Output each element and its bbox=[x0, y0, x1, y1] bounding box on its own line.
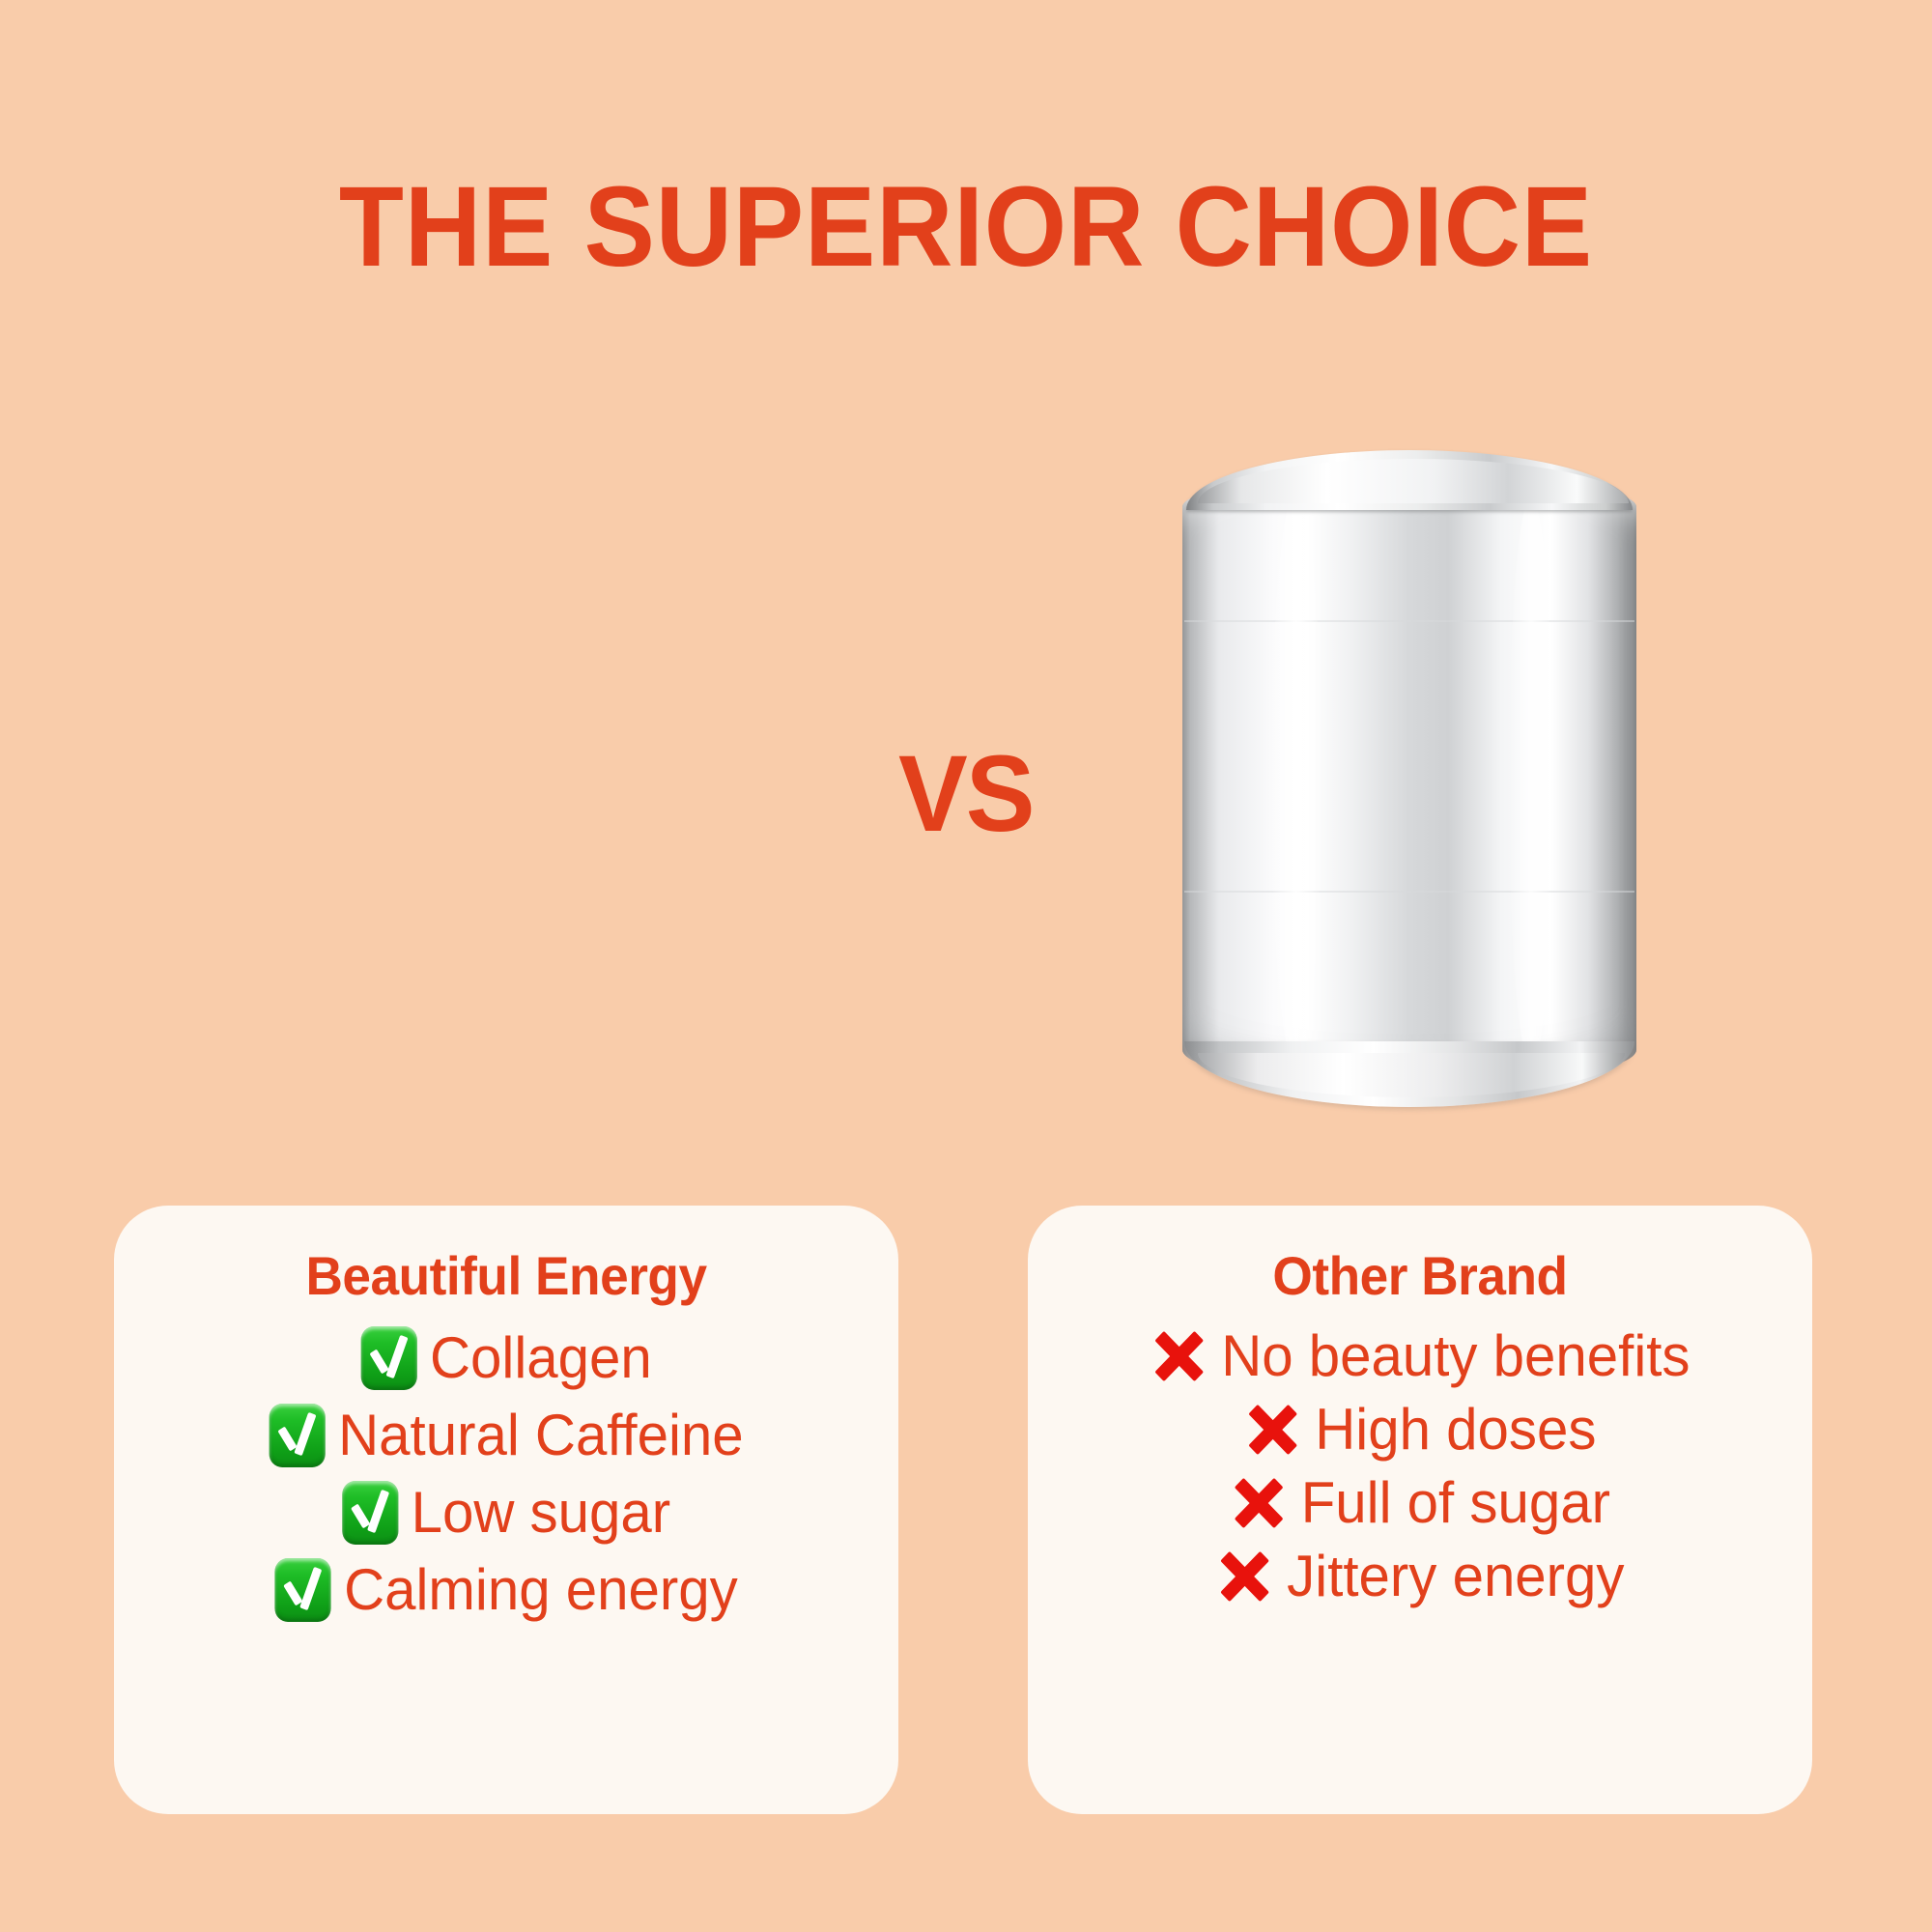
list-item-label: Full of sugar bbox=[1301, 1473, 1610, 1532]
list-item: Natural Caffeine bbox=[126, 1397, 887, 1474]
can-band bbox=[1184, 891, 1634, 893]
list-item-label: Low sugar bbox=[412, 1483, 671, 1542]
list-item-label: High doses bbox=[1315, 1400, 1596, 1459]
can-bottom-rim bbox=[1184, 1041, 1634, 1107]
list-item-label: No beauty benefits bbox=[1221, 1326, 1690, 1385]
comparison-card-other-brand: Other Brand No beauty benefits High dose… bbox=[1028, 1206, 1812, 1814]
check-mark-button-icon bbox=[360, 1326, 416, 1390]
can-top-rim-inner bbox=[1198, 459, 1629, 503]
benefit-list-left: Collagen Natural Caffeine Low sugar Calm… bbox=[114, 1320, 898, 1629]
list-item: Jittery energy bbox=[1039, 1540, 1801, 1613]
check-mark-button-icon bbox=[274, 1558, 330, 1622]
silver-can-image bbox=[1182, 450, 1636, 1107]
list-item: Calming energy bbox=[126, 1551, 887, 1629]
card-title-left: Beautiful Energy bbox=[133, 1246, 878, 1306]
list-item: Full of sugar bbox=[1039, 1466, 1801, 1540]
card-title-right: Other Brand bbox=[1047, 1246, 1792, 1306]
cross-mark-icon bbox=[1215, 1547, 1273, 1606]
list-item-label: Calming energy bbox=[344, 1560, 738, 1619]
comparison-card-beautiful-energy: Beautiful Energy Collagen Natural Caffei… bbox=[114, 1206, 898, 1814]
list-item: No beauty benefits bbox=[1039, 1320, 1801, 1393]
list-item: High doses bbox=[1039, 1393, 1801, 1466]
can-band bbox=[1184, 620, 1634, 622]
list-item: Low sugar bbox=[126, 1474, 887, 1551]
check-mark-button-icon bbox=[342, 1481, 398, 1545]
list-item-label: Jittery energy bbox=[1287, 1547, 1624, 1605]
cross-mark-icon bbox=[1244, 1400, 1302, 1460]
can-body bbox=[1182, 475, 1636, 1084]
list-item-label: Collagen bbox=[430, 1328, 652, 1387]
page-title: THE SUPERIOR CHOICE bbox=[68, 170, 1864, 284]
check-mark-button-icon bbox=[269, 1404, 325, 1467]
cross-mark-icon bbox=[1230, 1473, 1288, 1533]
list-item: Collagen bbox=[126, 1320, 887, 1397]
cross-mark-icon bbox=[1150, 1326, 1207, 1386]
superior-choice-poster: THE SUPERIOR CHOICE VS Beautiful Energy … bbox=[0, 0, 1932, 1932]
can-bottom-rim-inner bbox=[1198, 1053, 1625, 1097]
versus-label: VS bbox=[898, 740, 1034, 848]
can-top-rim bbox=[1186, 450, 1633, 510]
list-item-label: Natural Caffeine bbox=[338, 1406, 744, 1464]
drawback-list-right: No beauty benefits High doses Full of su… bbox=[1028, 1320, 1812, 1613]
